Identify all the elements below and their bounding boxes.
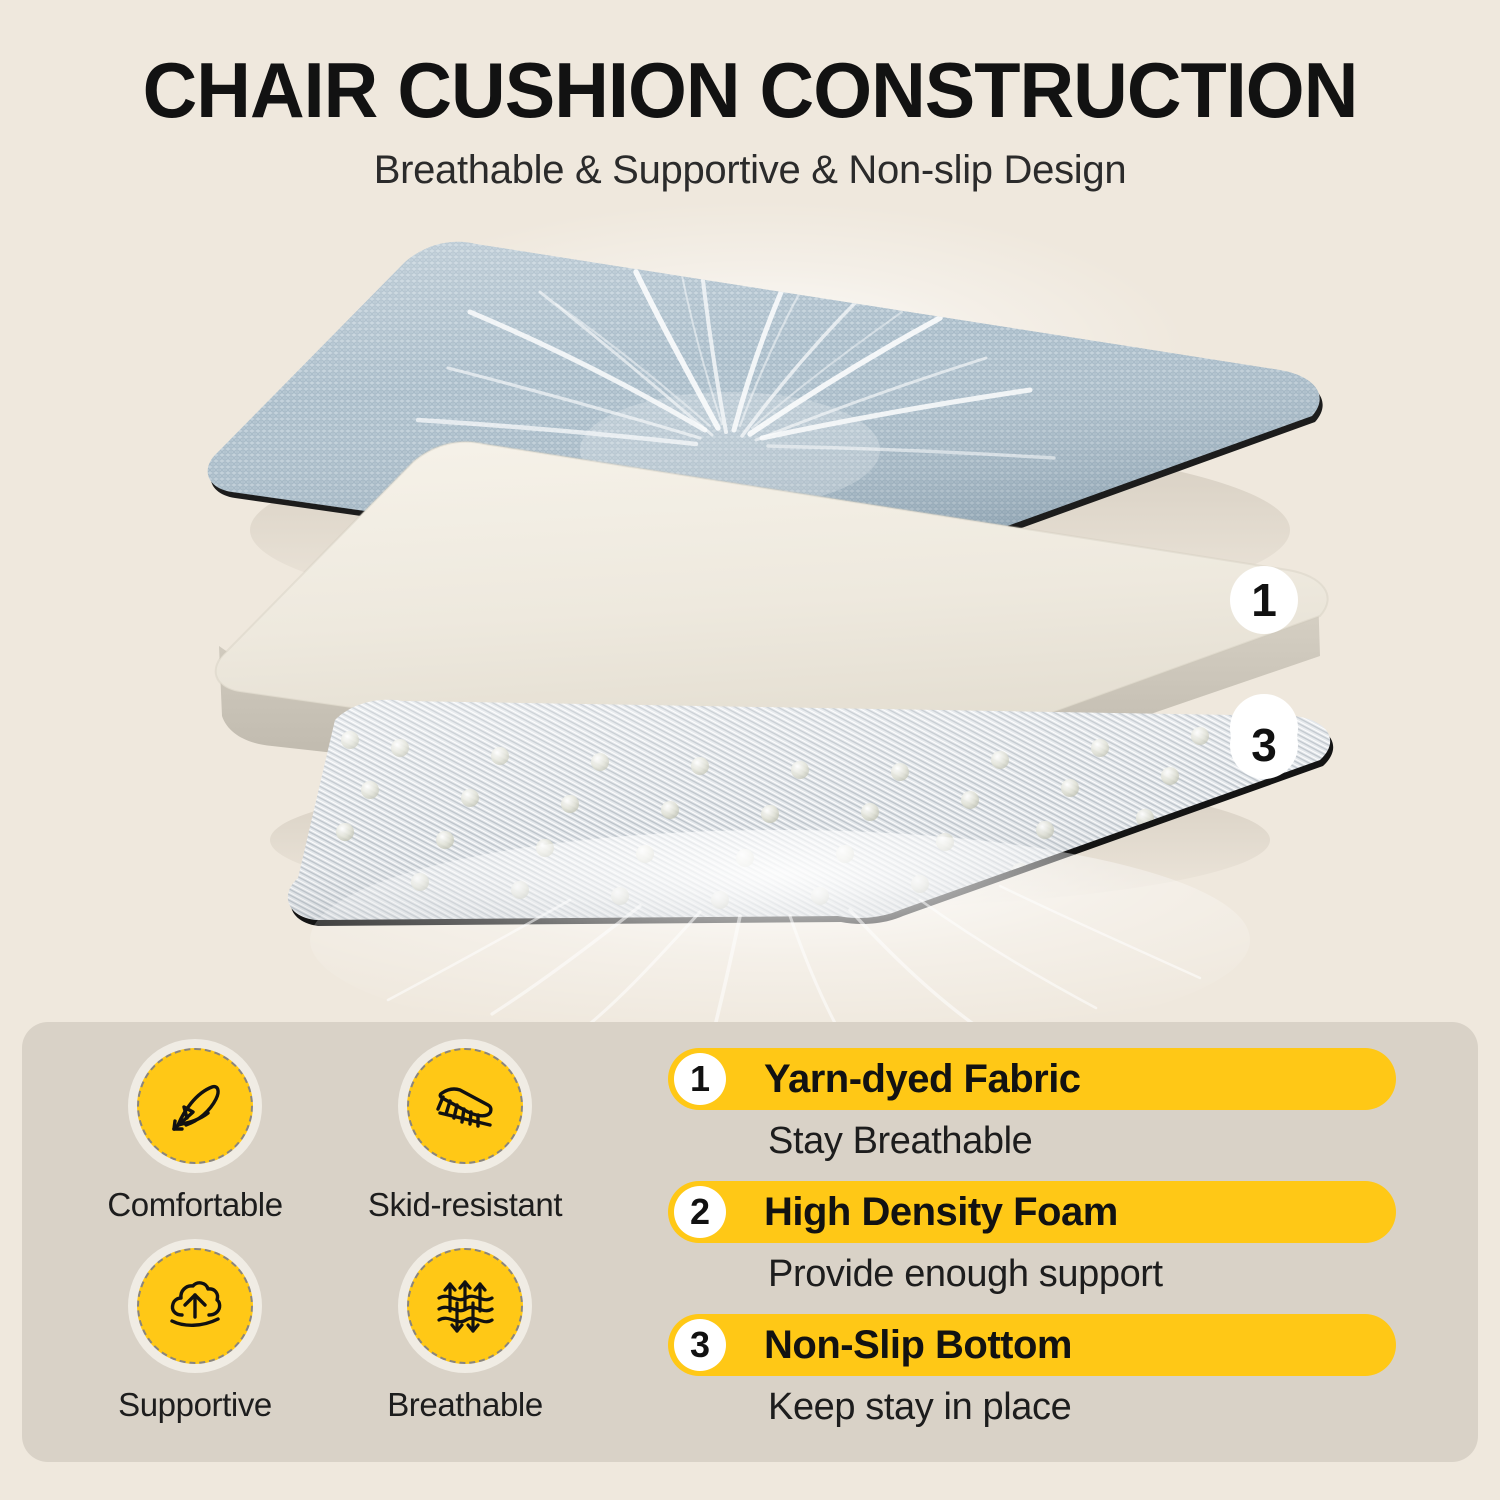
svg-text:1: 1 [1251, 574, 1277, 626]
list-item[interactable]: 1 Yarn-dyed Fabric Stay Breathable [668, 1048, 1458, 1171]
cloud-up-arrow-icon [137, 1248, 253, 1364]
exploded-cushion-illustration: 1 2 3 [0, 200, 1500, 1030]
pill-number-badge: 3 [674, 1319, 726, 1371]
pill-number-badge: 2 [674, 1186, 726, 1238]
pill-subtitle: Stay Breathable [668, 1110, 1458, 1171]
pill-title: High Density Foam [764, 1190, 1118, 1235]
page-subtitle: Breathable & Supportive & Non-slip Desig… [0, 132, 1500, 193]
layer-badge-1: 1 [1230, 566, 1298, 634]
airflow-arrows-icon [407, 1248, 523, 1364]
grip-bristles-icon [407, 1048, 523, 1164]
list-item[interactable]: 2 High Density Foam Provide enough suppo… [668, 1181, 1458, 1304]
svg-text:3: 3 [1251, 719, 1277, 771]
layer-badge-3: 3 [1230, 711, 1298, 779]
feature-label: Comfortable [107, 1186, 282, 1224]
pill-title: Yarn-dyed Fabric [764, 1057, 1081, 1102]
header: CHAIR CUSHION CONSTRUCTION Breathable & … [0, 0, 1500, 193]
list-item[interactable]: 3 Non-Slip Bottom Keep stay in place [668, 1314, 1458, 1437]
feature-comfortable[interactable]: Comfortable [60, 1048, 330, 1248]
pill-number-badge: 1 [674, 1053, 726, 1105]
pill-subtitle: Provide enough support [668, 1243, 1458, 1304]
construction-pill-3[interactable]: 3 Non-Slip Bottom [668, 1314, 1396, 1376]
feature-breathable[interactable]: Breathable [330, 1248, 600, 1448]
feature-icon-grid: Comfortable Skid-resistant [60, 1048, 600, 1448]
construction-pill-1[interactable]: 1 Yarn-dyed Fabric [668, 1048, 1396, 1110]
pill-title: Non-Slip Bottom [764, 1323, 1072, 1368]
feature-label: Breathable [387, 1386, 543, 1424]
feature-supportive[interactable]: Supportive [60, 1248, 330, 1448]
construction-list: 1 Yarn-dyed Fabric Stay Breathable 2 Hig… [668, 1048, 1458, 1447]
feature-label: Supportive [118, 1386, 272, 1424]
construction-pill-2[interactable]: 2 High Density Foam [668, 1181, 1396, 1243]
feather-icon [137, 1048, 253, 1164]
pill-subtitle: Keep stay in place [668, 1376, 1458, 1437]
feature-skid-resistant[interactable]: Skid-resistant [330, 1048, 600, 1248]
feature-label: Skid-resistant [368, 1186, 562, 1224]
page-title: CHAIR CUSHION CONSTRUCTION [23, 0, 1478, 132]
